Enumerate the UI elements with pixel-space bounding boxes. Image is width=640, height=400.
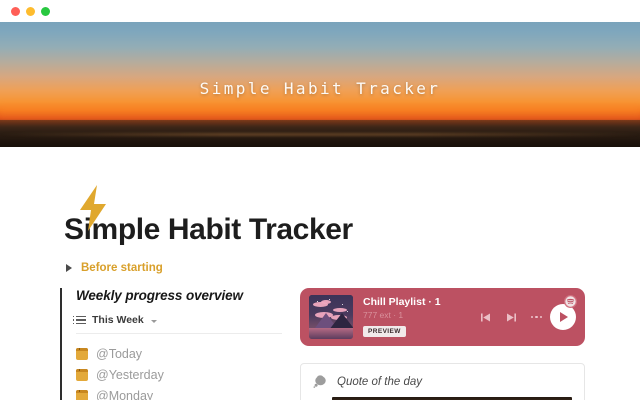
list-item-label: @Yesterday (96, 368, 164, 382)
view-selector-label: This Week (92, 314, 144, 326)
page-content: Simple Habit Tracker Before starting Wee… (0, 213, 640, 400)
day-list: @Today @Yesterday @Monday @Last Sunday (76, 343, 282, 400)
minimize-window-button[interactable] (26, 7, 35, 16)
preview-badge: PREVIEW (363, 326, 406, 337)
page-cover-image[interactable]: Simple Habit Tracker (0, 22, 640, 147)
speech-bubble-icon (313, 375, 328, 388)
window-titlebar (0, 0, 640, 22)
view-selector[interactable]: This Week (76, 314, 282, 334)
cover-title-text: Simple Habit Tracker (0, 79, 640, 98)
track-metadata: Chill Playlist · 1 777 ext · 1 PREVIEW (363, 296, 479, 338)
quote-header: Quote of the day (313, 375, 572, 388)
calendar-icon (76, 390, 88, 400)
next-track-icon[interactable] (505, 311, 518, 324)
toggle-label: Before starting (81, 262, 163, 274)
left-column: Weekly progress overview This Week @Toda… (60, 288, 282, 400)
page-title: Simple Habit Tracker (64, 213, 640, 247)
spotify-player-embed[interactable]: Chill Playlist · 1 777 ext · 1 PREVIEW (300, 288, 585, 346)
lightning-bolt-icon[interactable] (76, 185, 110, 231)
toggle-triangle-icon[interactable] (66, 264, 72, 272)
quote-of-the-day-card[interactable]: Quote of the day (300, 363, 585, 400)
cover-horizon-streak (0, 133, 640, 136)
content-columns: Weekly progress overview This Week @Toda… (0, 288, 640, 400)
list-item-label: @Monday (96, 389, 153, 400)
list-item-label: @Today (96, 347, 142, 361)
calendar-icon (76, 369, 88, 381)
previous-track-icon[interactable] (479, 311, 492, 324)
quote-label: Quote of the day (337, 376, 422, 388)
calendar-icon (76, 348, 88, 360)
track-subtitle: 777 ext · 1 (363, 310, 479, 320)
close-window-button[interactable] (11, 7, 20, 16)
more-options-icon[interactable] (531, 316, 542, 318)
chevron-down-icon[interactable] (151, 320, 157, 323)
list-view-icon (76, 316, 86, 325)
list-item[interactable]: @Yesterday (76, 364, 282, 385)
album-artwork (309, 295, 353, 339)
traffic-lights (11, 7, 50, 16)
list-item[interactable]: @Monday (76, 385, 282, 400)
track-title: Chill Playlist · 1 (363, 296, 479, 308)
weekly-progress-heading: Weekly progress overview (76, 288, 282, 303)
player-controls (479, 311, 542, 324)
play-button[interactable] (550, 304, 576, 330)
maximize-window-button[interactable] (41, 7, 50, 16)
right-column: Chill Playlist · 1 777 ext · 1 PREVIEW (300, 288, 585, 400)
weekly-progress-callout: Weekly progress overview This Week @Toda… (60, 288, 282, 400)
play-icon (560, 312, 568, 322)
before-starting-toggle[interactable]: Before starting (66, 262, 640, 274)
list-item[interactable]: @Today (76, 343, 282, 364)
spotify-logo-icon[interactable] (564, 295, 577, 308)
